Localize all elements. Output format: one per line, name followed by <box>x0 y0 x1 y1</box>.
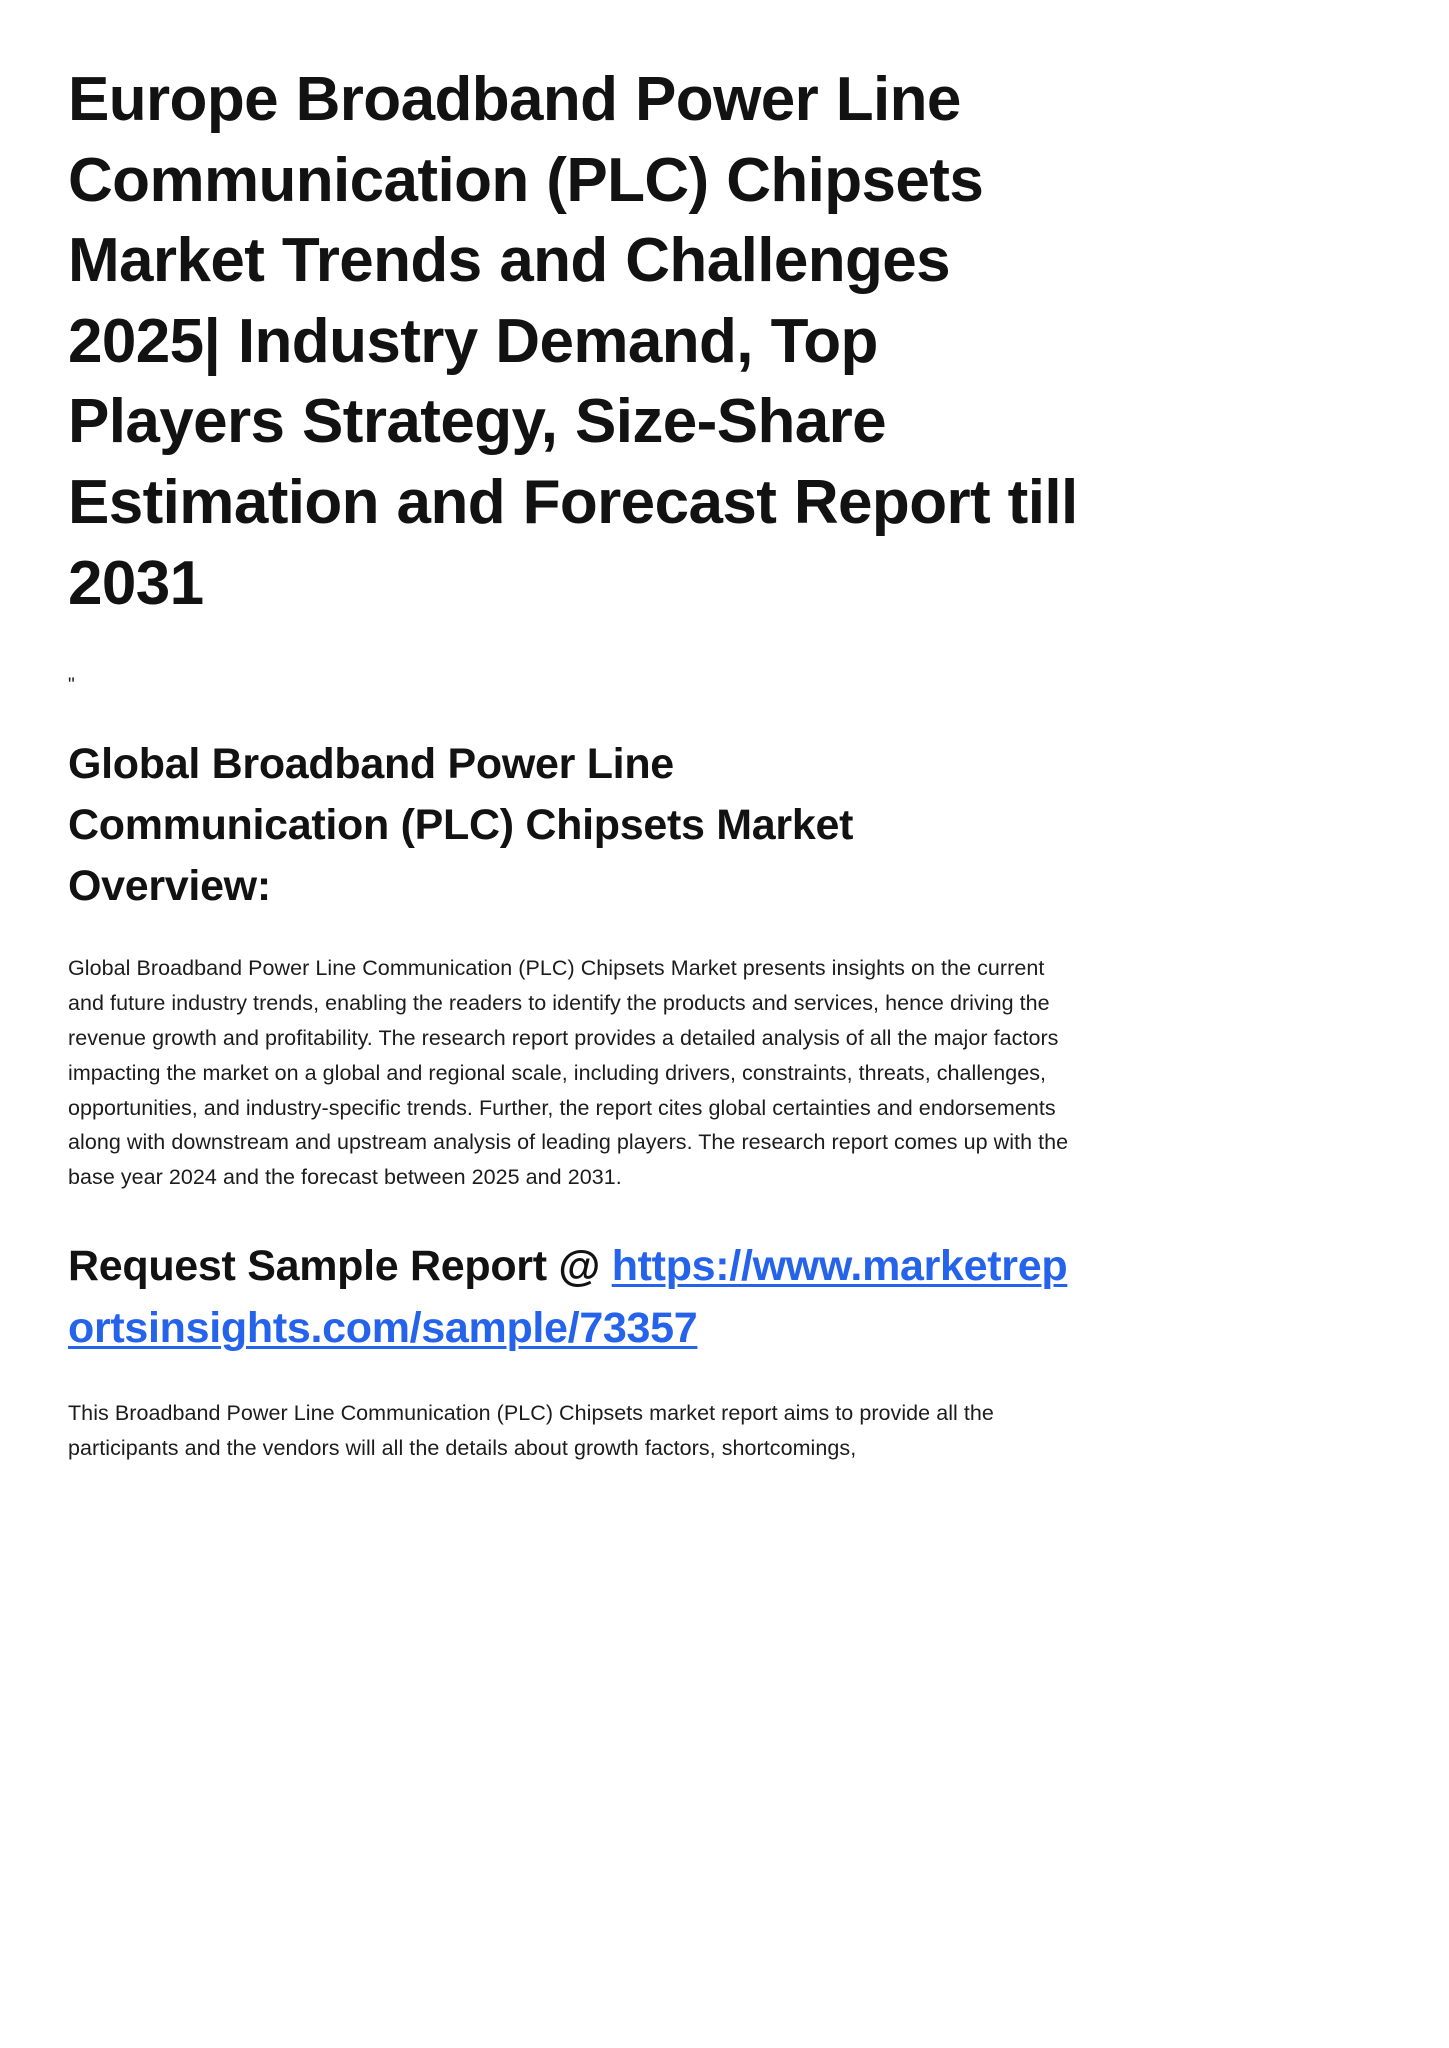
market-overview-heading: Global Broadband Power Line Communicatio… <box>68 734 948 917</box>
document-page: Europe Broadband Power Line Communicatio… <box>0 0 1449 2048</box>
page-title: Europe Broadband Power Line Communicatio… <box>68 60 1078 624</box>
article-body: Europe Broadband Power Line Communicatio… <box>68 60 1078 1465</box>
closing-paragraph: This Broadband Power Line Communication … <box>68 1396 1078 1466</box>
request-sample-label: Request Sample Report @ <box>68 1242 612 1290</box>
request-sample-heading: Request Sample Report @ https://www.mark… <box>68 1235 1078 1360</box>
lead-quote-mark: " <box>68 676 1078 698</box>
market-overview-paragraph: Global Broadband Power Line Communicatio… <box>68 951 1078 1195</box>
